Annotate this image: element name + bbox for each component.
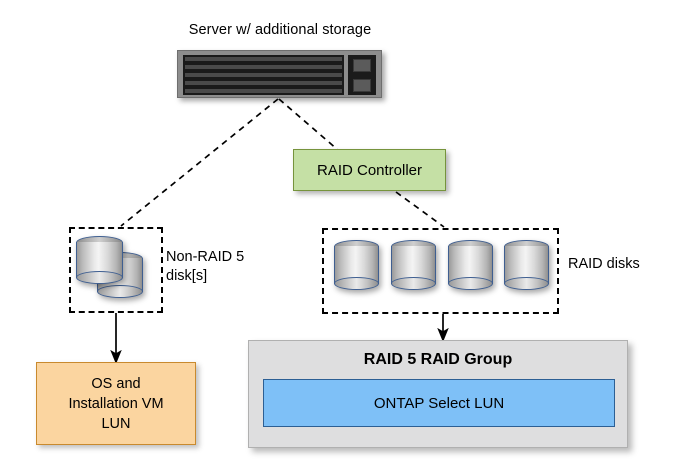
raid5-raid-group-title: RAID 5 RAID Group <box>249 351 627 369</box>
raid-controller-label: RAID Controller <box>317 162 422 179</box>
server-bay <box>185 81 342 85</box>
non-raid-label-line-2: disk[s] <box>166 267 244 286</box>
edge-server-to-nonraid <box>121 99 278 226</box>
os-lun-label-line-3: LUN <box>101 414 130 434</box>
disk-cylinder-icon <box>76 236 123 290</box>
non-raid-label-line-1: Non-RAID 5 <box>166 248 244 267</box>
disk-cylinder-icon <box>448 240 493 296</box>
server-bay <box>185 57 342 61</box>
disk-cylinder-icon <box>391 240 436 296</box>
os-lun-label-line-1: OS and <box>91 374 140 394</box>
server-button-icon <box>353 79 371 92</box>
ontap-select-lun-node[interactable]: ONTAP Select LUN <box>263 379 615 427</box>
server-bay <box>185 73 342 77</box>
os-lun-label-line-2: Installation VM <box>68 394 163 414</box>
diagram-title: Server w/ additional storage <box>0 22 560 38</box>
rack-server-icon <box>177 50 382 98</box>
os-installation-vm-lun-node[interactable]: OS and Installation VM LUN <box>36 362 196 445</box>
non-raid-disk-group-label: Non-RAID 5 disk[s] <box>166 248 244 286</box>
server-bay <box>185 65 342 69</box>
edge-server-to-raid-controller <box>279 99 338 150</box>
raid5-raid-group-node[interactable]: RAID 5 RAID Group ONTAP Select LUN <box>248 340 628 448</box>
disk-cylinder-icon <box>334 240 379 296</box>
server-front-panel <box>348 55 376 95</box>
server-drive-bays <box>183 55 344 95</box>
raid-disk-group-label: RAID disks <box>568 256 640 272</box>
diagram-canvas: Server w/ additional storage <box>0 0 675 475</box>
server-button-icon <box>353 59 371 72</box>
edge-raid-controller-to-raid-disks <box>396 192 444 227</box>
raid-controller-node[interactable]: RAID Controller <box>293 149 446 191</box>
ontap-select-lun-label: ONTAP Select LUN <box>374 395 504 412</box>
server-bay <box>185 89 342 93</box>
disk-cylinder-icon <box>504 240 549 296</box>
